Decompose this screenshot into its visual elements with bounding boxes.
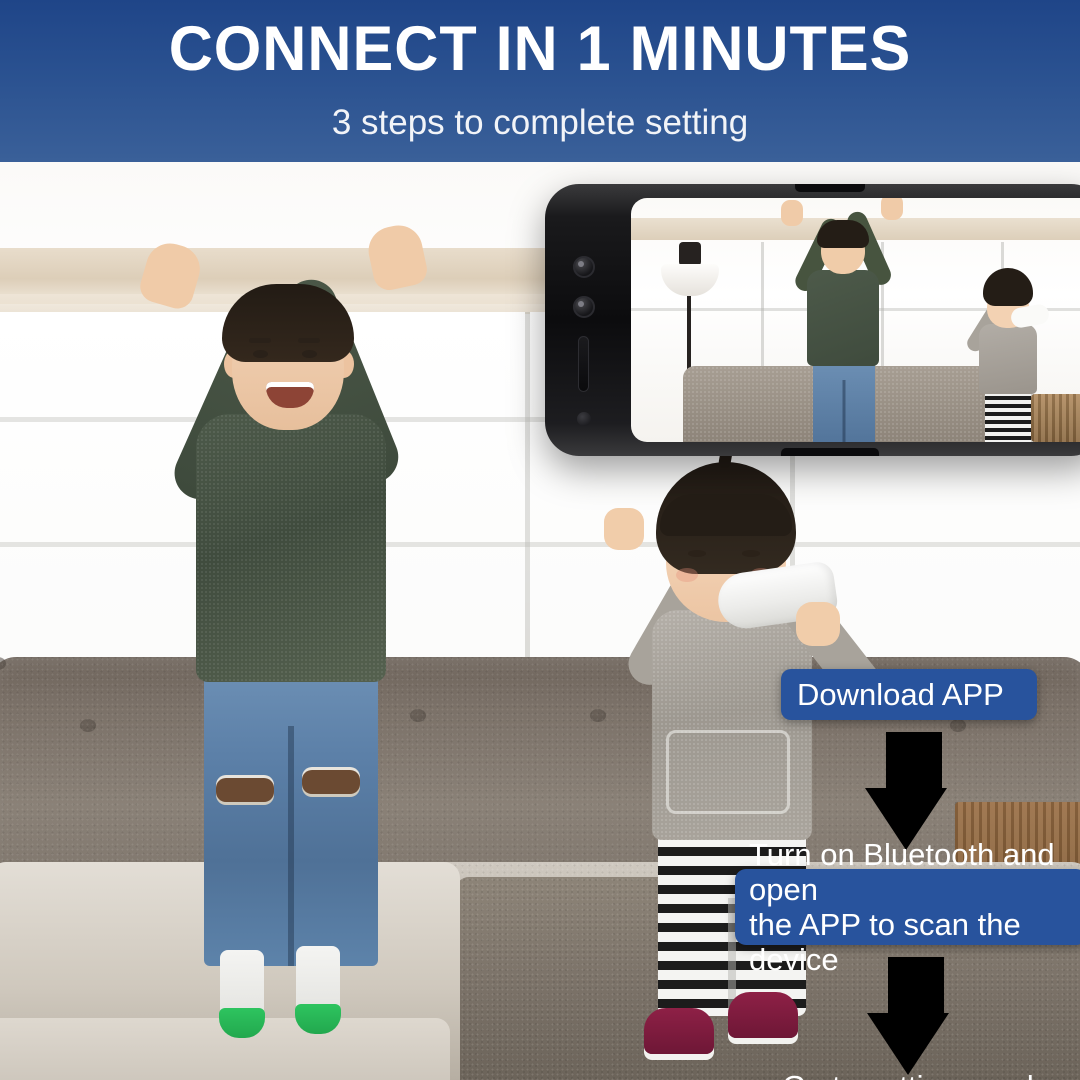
secondary-camera-icon — [573, 296, 595, 318]
girl-cheek — [676, 568, 698, 582]
boy-jeans-rip — [302, 770, 360, 794]
child-boy — [120, 222, 460, 1080]
header-banner: CONNECT IN 1 MINUTES 3 steps to complete… — [0, 0, 1080, 162]
page-subtitle: 3 steps to complete setting — [0, 104, 1080, 143]
front-camera-icon — [573, 256, 595, 278]
boy-jeans — [204, 666, 378, 966]
phone-sensor-icon — [577, 412, 591, 426]
girl-shoe — [728, 992, 798, 1038]
step-1-callout[interactable]: Download APP — [781, 669, 1037, 720]
girl-fist — [604, 508, 644, 550]
boy-eye — [302, 350, 317, 358]
phone-mockup — [545, 184, 1080, 456]
page-title: CONNECT IN 1 MINUTES — [16, 16, 1064, 82]
boy-hand-right — [364, 221, 430, 293]
boy-jeans-rip — [216, 778, 274, 802]
child-girl — [600, 452, 860, 1072]
girl-hand-right — [796, 602, 840, 646]
step-2-callout[interactable]: Turn on Bluetooth and open the APP to sc… — [735, 869, 1080, 945]
step-3-label: Go to settings and connect to your home … — [748, 1069, 1068, 1080]
scene-photo: Download APP Turn on Bluetooth and open … — [0, 162, 1080, 1080]
girl-hoodie-pocket — [666, 730, 790, 814]
phone-speaker-slot — [578, 336, 589, 392]
boy-eyebrow — [298, 338, 320, 343]
screen-child-girl — [961, 268, 1053, 428]
girl-eye — [688, 550, 706, 557]
boy-sock-toe — [219, 1008, 265, 1038]
girl-bangs — [660, 494, 792, 536]
screen-child-boy — [777, 208, 907, 418]
screen-lamp-shade — [661, 264, 719, 296]
boy-hair — [222, 284, 354, 362]
boy-hand-left — [137, 238, 206, 312]
step-1-label: Download APP — [797, 677, 1021, 712]
boy-sweater — [196, 414, 386, 682]
promo-image: CONNECT IN 1 MINUTES 3 steps to complete… — [0, 0, 1080, 1080]
girl-eye — [742, 550, 760, 557]
phone-speaker-grille — [781, 448, 879, 456]
girl-shoe — [644, 1008, 714, 1054]
boy-sock-toe — [295, 1004, 341, 1034]
phone-earpiece — [795, 184, 865, 192]
phone-screen[interactable] — [631, 198, 1080, 442]
boy-eyebrow — [249, 338, 271, 343]
boy-eye — [253, 350, 268, 358]
